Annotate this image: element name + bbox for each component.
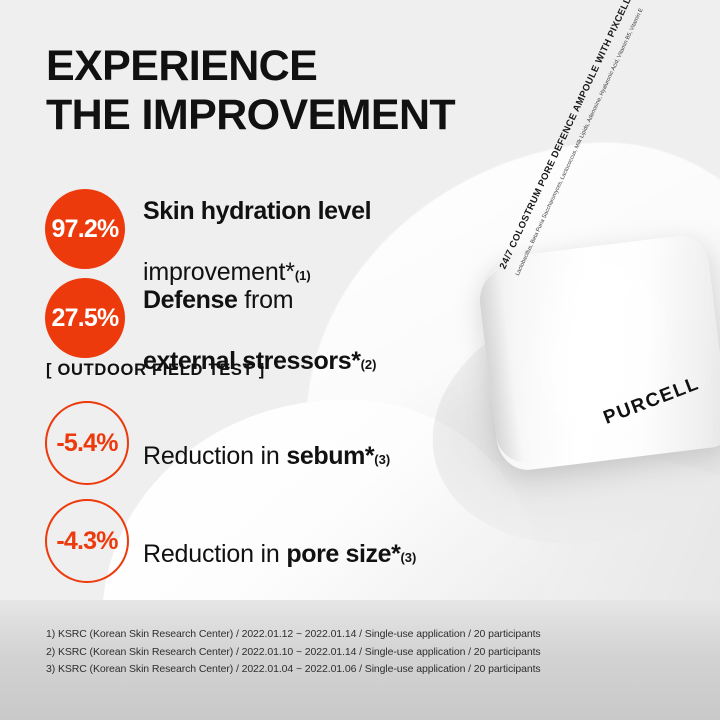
stat-term-pore-size: pore size <box>286 540 391 568</box>
footnote-1: 1) KSRC (Korean Skin Research Center) / … <box>46 626 541 644</box>
stat-label-sebum: Reduction in sebum*(3) <box>143 413 390 474</box>
footnote-2: 2) KSRC (Korean Skin Research Center) / … <box>46 644 541 662</box>
stat-line1-hydration: Skin hydration level <box>143 197 371 225</box>
stat-value-pore-size: -4.3% <box>56 527 117 556</box>
promo-poster: 24/7 COLOSTRUM PORE DEFENCE AMPOULE WITH… <box>0 0 720 720</box>
stat-term-sebum: sebum <box>286 442 365 470</box>
stat-prefix-pore-size: Reduction in <box>143 540 286 568</box>
stat-value-sebum: -5.4% <box>56 429 117 458</box>
stat-value-hydration: 97.2% <box>52 215 119 244</box>
product-label-title: 24/7 COLOSTRUM PORE DEFENCE AMPOULE WITH… <box>498 85 594 272</box>
stat-star-sebum: * <box>365 442 374 470</box>
stat-ref-pore-size: (3) <box>400 550 416 565</box>
product-bottle: 24/7 COLOSTRUM PORE DEFENCE AMPOULE WITH… <box>475 233 720 474</box>
section-label-outdoor-field-test: [ OUTDOOR FIELD TEST ] <box>46 361 265 380</box>
stat-prefix-sebum: Reduction in <box>143 442 286 470</box>
stat-line1-bold-defense: Defense <box>143 286 237 314</box>
stat-star-defense: * <box>351 347 360 375</box>
stat-row-sebum: -5.4% Reduction in sebum*(3) <box>45 401 390 485</box>
stat-label-pore-size: Reduction in pore size*(3) <box>143 511 416 572</box>
stat-ref-sebum: (3) <box>374 452 390 467</box>
footnotes: 1) KSRC (Korean Skin Research Center) / … <box>46 626 541 679</box>
stat-row-pore-size: -4.3% Reduction in pore size*(3) <box>45 499 416 583</box>
page-title: EXPERIENCE THE IMPROVEMENT <box>46 42 455 140</box>
stat-ref-defense: (2) <box>361 357 377 372</box>
stat-value-defense: 27.5% <box>52 304 119 333</box>
stat-badge-pore-size: -4.3% <box>45 499 129 583</box>
stat-badge-defense: 27.5% <box>45 278 125 358</box>
stat-line1-regular-defense: from <box>237 286 293 314</box>
stat-badge-sebum: -5.4% <box>45 401 129 485</box>
footnote-3: 3) KSRC (Korean Skin Research Center) / … <box>46 661 541 679</box>
